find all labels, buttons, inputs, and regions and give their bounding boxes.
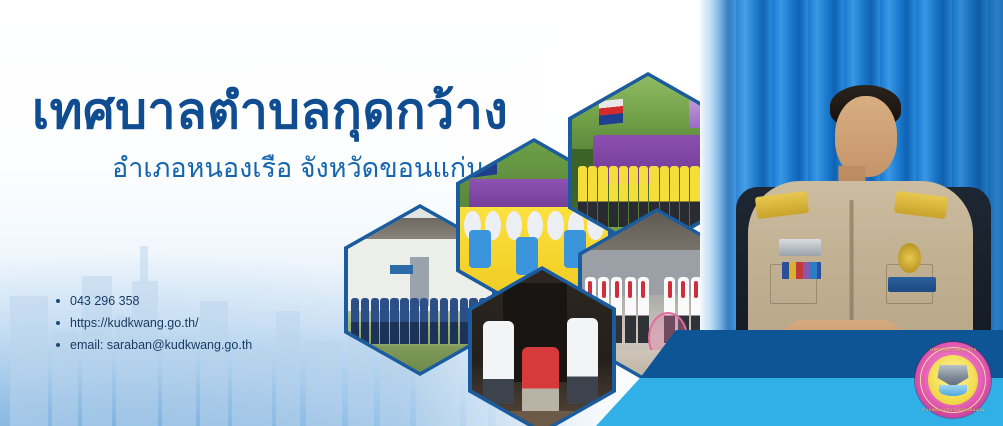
contact-website-text: https://kudkwang.go.th/ xyxy=(70,317,199,330)
shirt-placket xyxy=(849,200,854,336)
bullet-dot-icon xyxy=(56,299,60,303)
service-ribbons xyxy=(782,262,821,279)
contact-email-text: email: saraban@kudkwang.go.th xyxy=(70,339,252,352)
wing-insignia xyxy=(779,239,821,256)
shield-icon xyxy=(938,365,969,387)
contact-item-phone[interactable]: 043 296 358 xyxy=(56,290,252,312)
contact-item-email[interactable]: email: saraban@kudkwang.go.th xyxy=(56,334,252,356)
seal-center-emblem xyxy=(928,355,978,405)
seal-text-top: เทศบาลตำบลกุดกว้าง xyxy=(915,347,991,354)
face xyxy=(835,96,897,177)
seal-text-bottom: อำเภอหนองเรือ จังหวัดขอนแก่น xyxy=(915,406,991,413)
water-icon xyxy=(939,385,967,396)
contact-list: 043 296 358 https://kudkwang.go.th/ emai… xyxy=(56,290,252,356)
bullet-dot-icon xyxy=(56,343,60,347)
bullet-dot-icon xyxy=(56,321,60,325)
name-tag xyxy=(888,277,936,292)
seal-emblem[interactable]: เทศบาลตำบลกุดกว้าง อำเภอหนองเรือ จังหวัด… xyxy=(915,342,991,418)
gold-badge-icon xyxy=(898,243,921,273)
site-header-banner: เทศบาลตำบลกุดกว้าง อำเภอหนองเรือ จังหวัด… xyxy=(0,0,1003,426)
contact-phone-text: 043 296 358 xyxy=(70,295,140,308)
contact-item-website[interactable]: https://kudkwang.go.th/ xyxy=(56,312,252,334)
